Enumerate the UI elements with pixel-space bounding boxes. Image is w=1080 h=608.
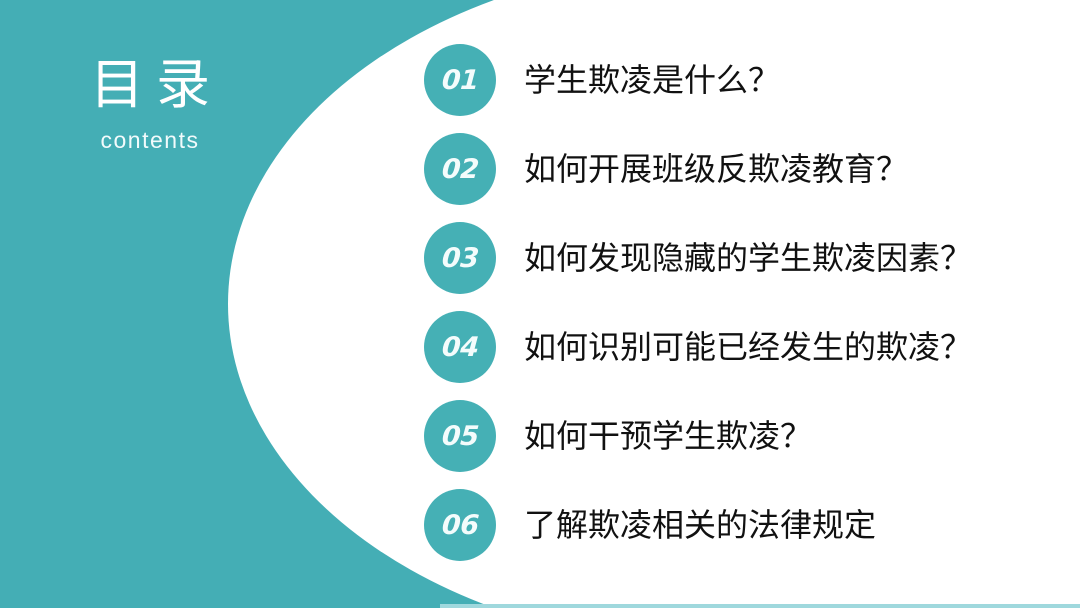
toc-number-badge: 06 xyxy=(424,489,496,561)
toc-item-04[interactable]: 04 如何识别可能已经发生的欺凌？ xyxy=(424,311,1064,383)
toc-item-label: 学生欺凌是什么？ xyxy=(524,62,780,98)
toc-number-badge: 01 xyxy=(424,44,496,116)
toc-item-label: 如何发现隐藏的学生欺凌因素？ xyxy=(524,240,972,276)
toc-item-03[interactable]: 03 如何发现隐藏的学生欺凌因素？ xyxy=(424,222,1064,294)
toc-number-badge: 02 xyxy=(424,133,496,205)
toc-item-06[interactable]: 06 了解欺凌相关的法律规定 xyxy=(424,489,1064,561)
toc-item-01[interactable]: 01 学生欺凌是什么？ xyxy=(424,44,1064,116)
toc-number-badge: 03 xyxy=(424,222,496,294)
toc-item-05[interactable]: 05 如何干预学生欺凌？ xyxy=(424,400,1064,472)
toc-number-label: 01 xyxy=(441,67,479,94)
toc-number-label: 04 xyxy=(441,334,479,361)
toc-number-label: 02 xyxy=(441,156,479,183)
page-title: 目录 xyxy=(0,54,300,116)
toc-number-badge: 05 xyxy=(424,400,496,472)
toc-item-label: 了解欺凌相关的法律规定 xyxy=(524,507,876,543)
slide-canvas: 目录 contents 01 学生欺凌是什么？ 02 如何开展班级反欺凌教育？ … xyxy=(0,0,1080,608)
toc-number-label: 05 xyxy=(441,423,479,450)
page-subtitle: contents xyxy=(0,126,300,154)
toc-item-label: 如何干预学生欺凌？ xyxy=(524,418,812,454)
page-title-block: 目录 contents xyxy=(0,54,300,154)
toc-number-badge: 04 xyxy=(424,311,496,383)
toc-item-label: 如何开展班级反欺凌教育？ xyxy=(524,151,908,187)
teal-bottom-cover xyxy=(0,604,440,608)
toc-item-02[interactable]: 02 如何开展班级反欺凌教育？ xyxy=(424,133,1064,205)
toc-number-label: 06 xyxy=(441,512,479,539)
toc-list: 01 学生欺凌是什么？ 02 如何开展班级反欺凌教育？ 03 如何发现隐藏的学生… xyxy=(424,44,1064,561)
toc-number-label: 03 xyxy=(441,245,479,272)
toc-item-label: 如何识别可能已经发生的欺凌？ xyxy=(524,329,972,365)
